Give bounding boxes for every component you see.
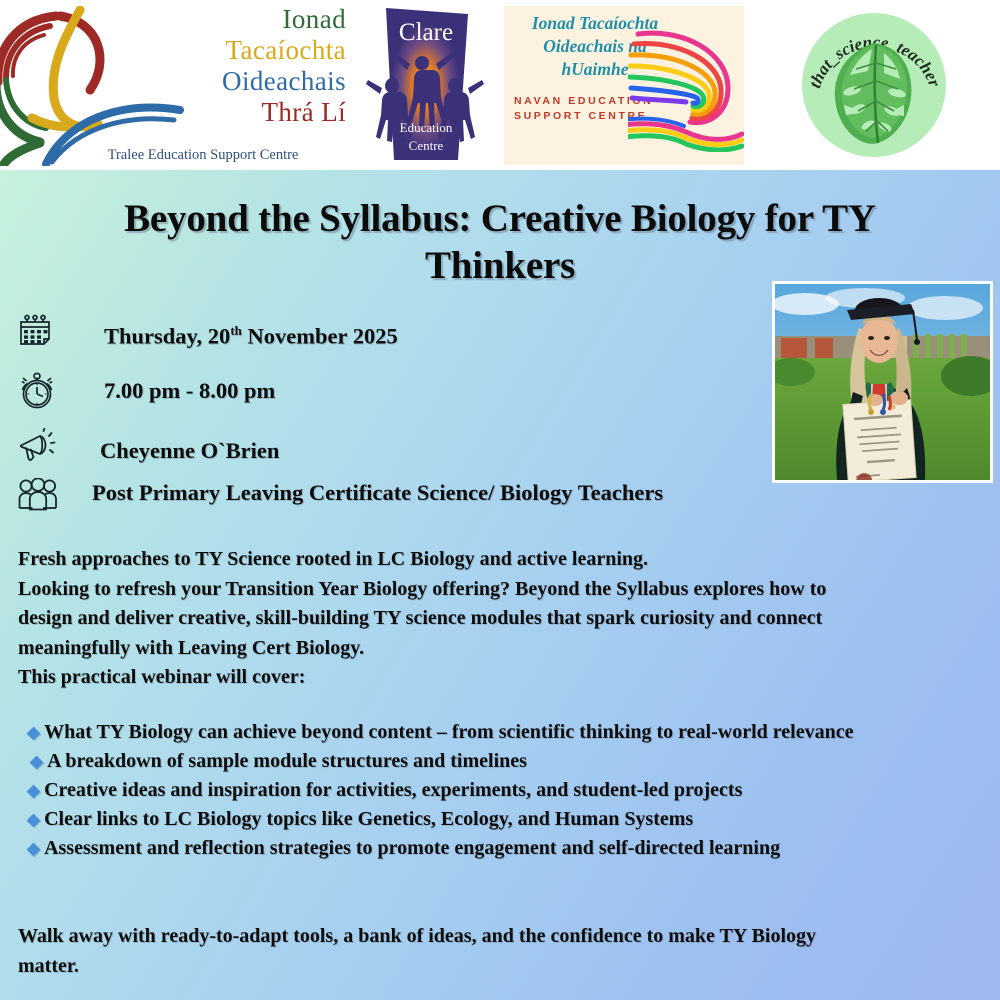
detail-row-speaker: Cheyenne O`Brien: [18, 428, 279, 466]
people-group-icon: [18, 478, 60, 514]
detail-audience-text: Post Primary Leaving Certificate Science…: [92, 480, 663, 506]
list-item-label: Creative ideas and inspiration for activ…: [44, 779, 742, 801]
body-line-1: Fresh approaches to TY Science rooted in…: [18, 545, 856, 575]
diamond-bullet-icon: ◆: [27, 810, 40, 829]
monstera-leaf-badge-icon: that_science_teacher: [798, 9, 950, 161]
stopwatch-icon: [18, 370, 60, 410]
bullet-list: ◆What TY Biology can achieve beyond cont…: [18, 718, 856, 863]
list-item-label: What TY Biology can achieve beyond conte…: [44, 721, 853, 743]
webinar-flyer: Ionad Tacaíochta Oideachais Thrá Lí Tral…: [0, 0, 1000, 1000]
logo-clare-education-centre: Clare Education Centre: [348, 0, 500, 170]
list-item: ◆What TY Biology can achieve beyond cont…: [18, 718, 856, 747]
list-item-label: A breakdown of sample module structures …: [47, 750, 527, 772]
list-item: ◆Creative ideas and inspiration for acti…: [18, 776, 856, 805]
navan-rainbow-swirl-icon: [628, 28, 744, 152]
tralee-line-1: Ionad: [96, 4, 346, 35]
body-line-3: This practical webinar will cover:: [18, 663, 856, 693]
detail-time-text: 7.00 pm - 8.00 pm: [104, 378, 275, 404]
logo-that-science-teacher: that_science_teacher: [748, 0, 1000, 170]
date-suffix: November 2025: [242, 324, 398, 349]
clare-bottom-label-1: Education: [400, 120, 453, 135]
diamond-bullet-icon: ◆: [30, 752, 43, 771]
detail-row-time: 7.00 pm - 8.00 pm: [18, 370, 275, 410]
logo-tralee-education-support-centre: Ionad Tacaíochta Oideachais Thrá Lí Tral…: [0, 0, 348, 170]
detail-date-text: Thursday, 20th November 2025: [104, 318, 398, 350]
date-ordinal: th: [230, 323, 242, 338]
list-item: ◆A breakdown of sample module structures…: [18, 747, 856, 776]
detail-row-date: Thursday, 20th November 2025: [18, 313, 398, 350]
diamond-bullet-icon: ◆: [27, 723, 40, 742]
logo-navan-education-support-centre: Ionad Tacaíochta Oideachais na hUaimhe N…: [500, 0, 748, 170]
flyer-body: Beyond the Syllabus: Creative Biology fo…: [0, 170, 1000, 1000]
tralee-line-3: Oideachais: [96, 66, 346, 97]
megaphone-icon: [18, 428, 60, 466]
body-copy: Fresh approaches to TY Science rooted in…: [18, 545, 856, 693]
detail-row-audience: Post Primary Leaving Certificate Science…: [18, 478, 663, 514]
tralee-subtitle: Tralee Education Support Centre: [58, 147, 348, 164]
clare-bottom-label-2: Centre: [409, 138, 444, 153]
calendar-icon: [18, 313, 60, 349]
tralee-line-2: Tacaíochta: [96, 35, 346, 66]
diamond-bullet-icon: ◆: [27, 839, 40, 858]
closing-paragraph: Walk away with ready-to-adapt tools, a b…: [18, 922, 856, 981]
speaker-graduation-photo: [772, 281, 993, 483]
list-item-label: Clear links to LC Biology topics like Ge…: [44, 808, 693, 830]
clare-top-label: Clare: [399, 19, 453, 46]
clare-logo-icon: Clare Education Centre: [364, 4, 486, 166]
date-prefix: Thursday, 20: [104, 324, 230, 349]
list-item-label: Assessment and reflection strategies to …: [44, 837, 780, 859]
graduation-photo-illustration: [775, 284, 990, 480]
page-title: Beyond the Syllabus: Creative Biology fo…: [48, 195, 952, 289]
list-item: ◆Clear links to LC Biology topics like G…: [18, 805, 856, 834]
list-item: ◆Assessment and reflection strategies to…: [18, 834, 856, 863]
tralee-line-4: Thrá Lí: [96, 97, 346, 128]
logo-band: Ionad Tacaíochta Oideachais Thrá Lí Tral…: [0, 0, 1000, 170]
diamond-bullet-icon: ◆: [27, 781, 40, 800]
tralee-wordmark: Ionad Tacaíochta Oideachais Thrá Lí: [96, 4, 346, 128]
detail-speaker-text: Cheyenne O`Brien: [100, 438, 279, 464]
body-line-2: Looking to refresh your Transition Year …: [18, 575, 856, 664]
